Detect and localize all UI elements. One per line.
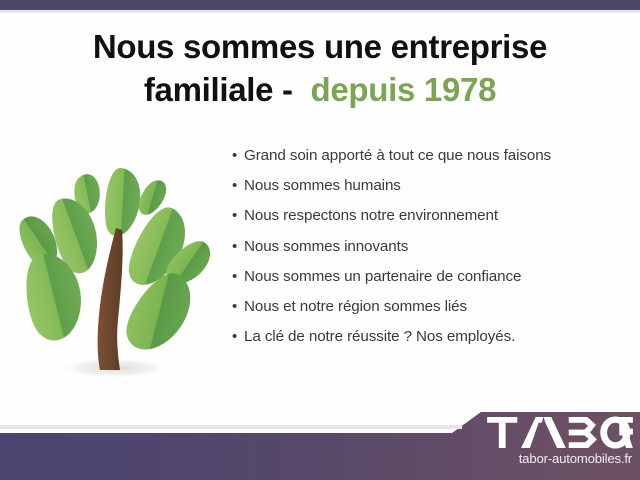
bullet-icon: • bbox=[232, 178, 244, 193]
list-item-label: Nous respectons notre environnement bbox=[244, 208, 498, 225]
tree-illustration bbox=[12, 140, 217, 390]
bullet-icon: • bbox=[232, 148, 244, 163]
list-item: • Grand soin apporté à tout ce que nous … bbox=[232, 148, 622, 165]
list-item-label: Nous sommes innovants bbox=[244, 239, 408, 256]
leaf bbox=[104, 167, 142, 237]
top-accent-hairline bbox=[0, 10, 640, 13]
list-item-label: Nous sommes humains bbox=[244, 178, 401, 195]
list-item-label: Nous sommes un partenaire de confiance bbox=[244, 269, 521, 286]
page-title-line-1: Nous sommes une entreprise bbox=[40, 26, 600, 69]
page-title-line-2-black: familiale - bbox=[144, 71, 293, 108]
list-item: • La clé de notre réussite ? Nos employé… bbox=[232, 329, 622, 346]
tree-illustration-svg bbox=[12, 140, 217, 390]
list-item-label: Nous et notre région sommes liés bbox=[244, 299, 467, 316]
brand-website-url[interactable]: tabor-automobiles.fr bbox=[486, 451, 632, 466]
brand-logo[interactable]: tabor-automobiles.fr bbox=[486, 416, 636, 466]
list-item: • Nous sommes innovants bbox=[232, 239, 622, 256]
bullet-icon: • bbox=[232, 269, 244, 284]
value-proposition-list: • Grand soin apporté à tout ce que nous … bbox=[232, 148, 622, 360]
tabor-wordmark-icon bbox=[486, 416, 634, 450]
bullet-icon: • bbox=[232, 329, 244, 344]
page-title-line-2: familiale - depuis 1978 bbox=[40, 69, 600, 112]
list-item: • Nous sommes un partenaire de confiance bbox=[232, 269, 622, 286]
list-item: • Nous sommes humains bbox=[232, 178, 622, 195]
tree-trunk bbox=[98, 228, 123, 370]
footer-hairline bbox=[0, 425, 462, 429]
top-accent-bar bbox=[0, 0, 640, 10]
page-title-highlight-year: depuis 1978 bbox=[311, 71, 497, 108]
bullet-icon: • bbox=[232, 208, 244, 223]
list-item-label: La clé de notre réussite ? Nos employés. bbox=[244, 329, 515, 346]
bullet-icon: • bbox=[232, 299, 244, 314]
list-item-label: Grand soin apporté à tout ce que nous fa… bbox=[244, 148, 551, 165]
list-item: • Nous respectons notre environnement bbox=[232, 208, 622, 225]
slide-canvas: Nous sommes une entreprise familiale - d… bbox=[0, 0, 640, 480]
bullet-icon: • bbox=[232, 239, 244, 254]
page-title: Nous sommes une entreprise familiale - d… bbox=[40, 26, 600, 112]
list-item: • Nous et notre région sommes liés bbox=[232, 299, 622, 316]
